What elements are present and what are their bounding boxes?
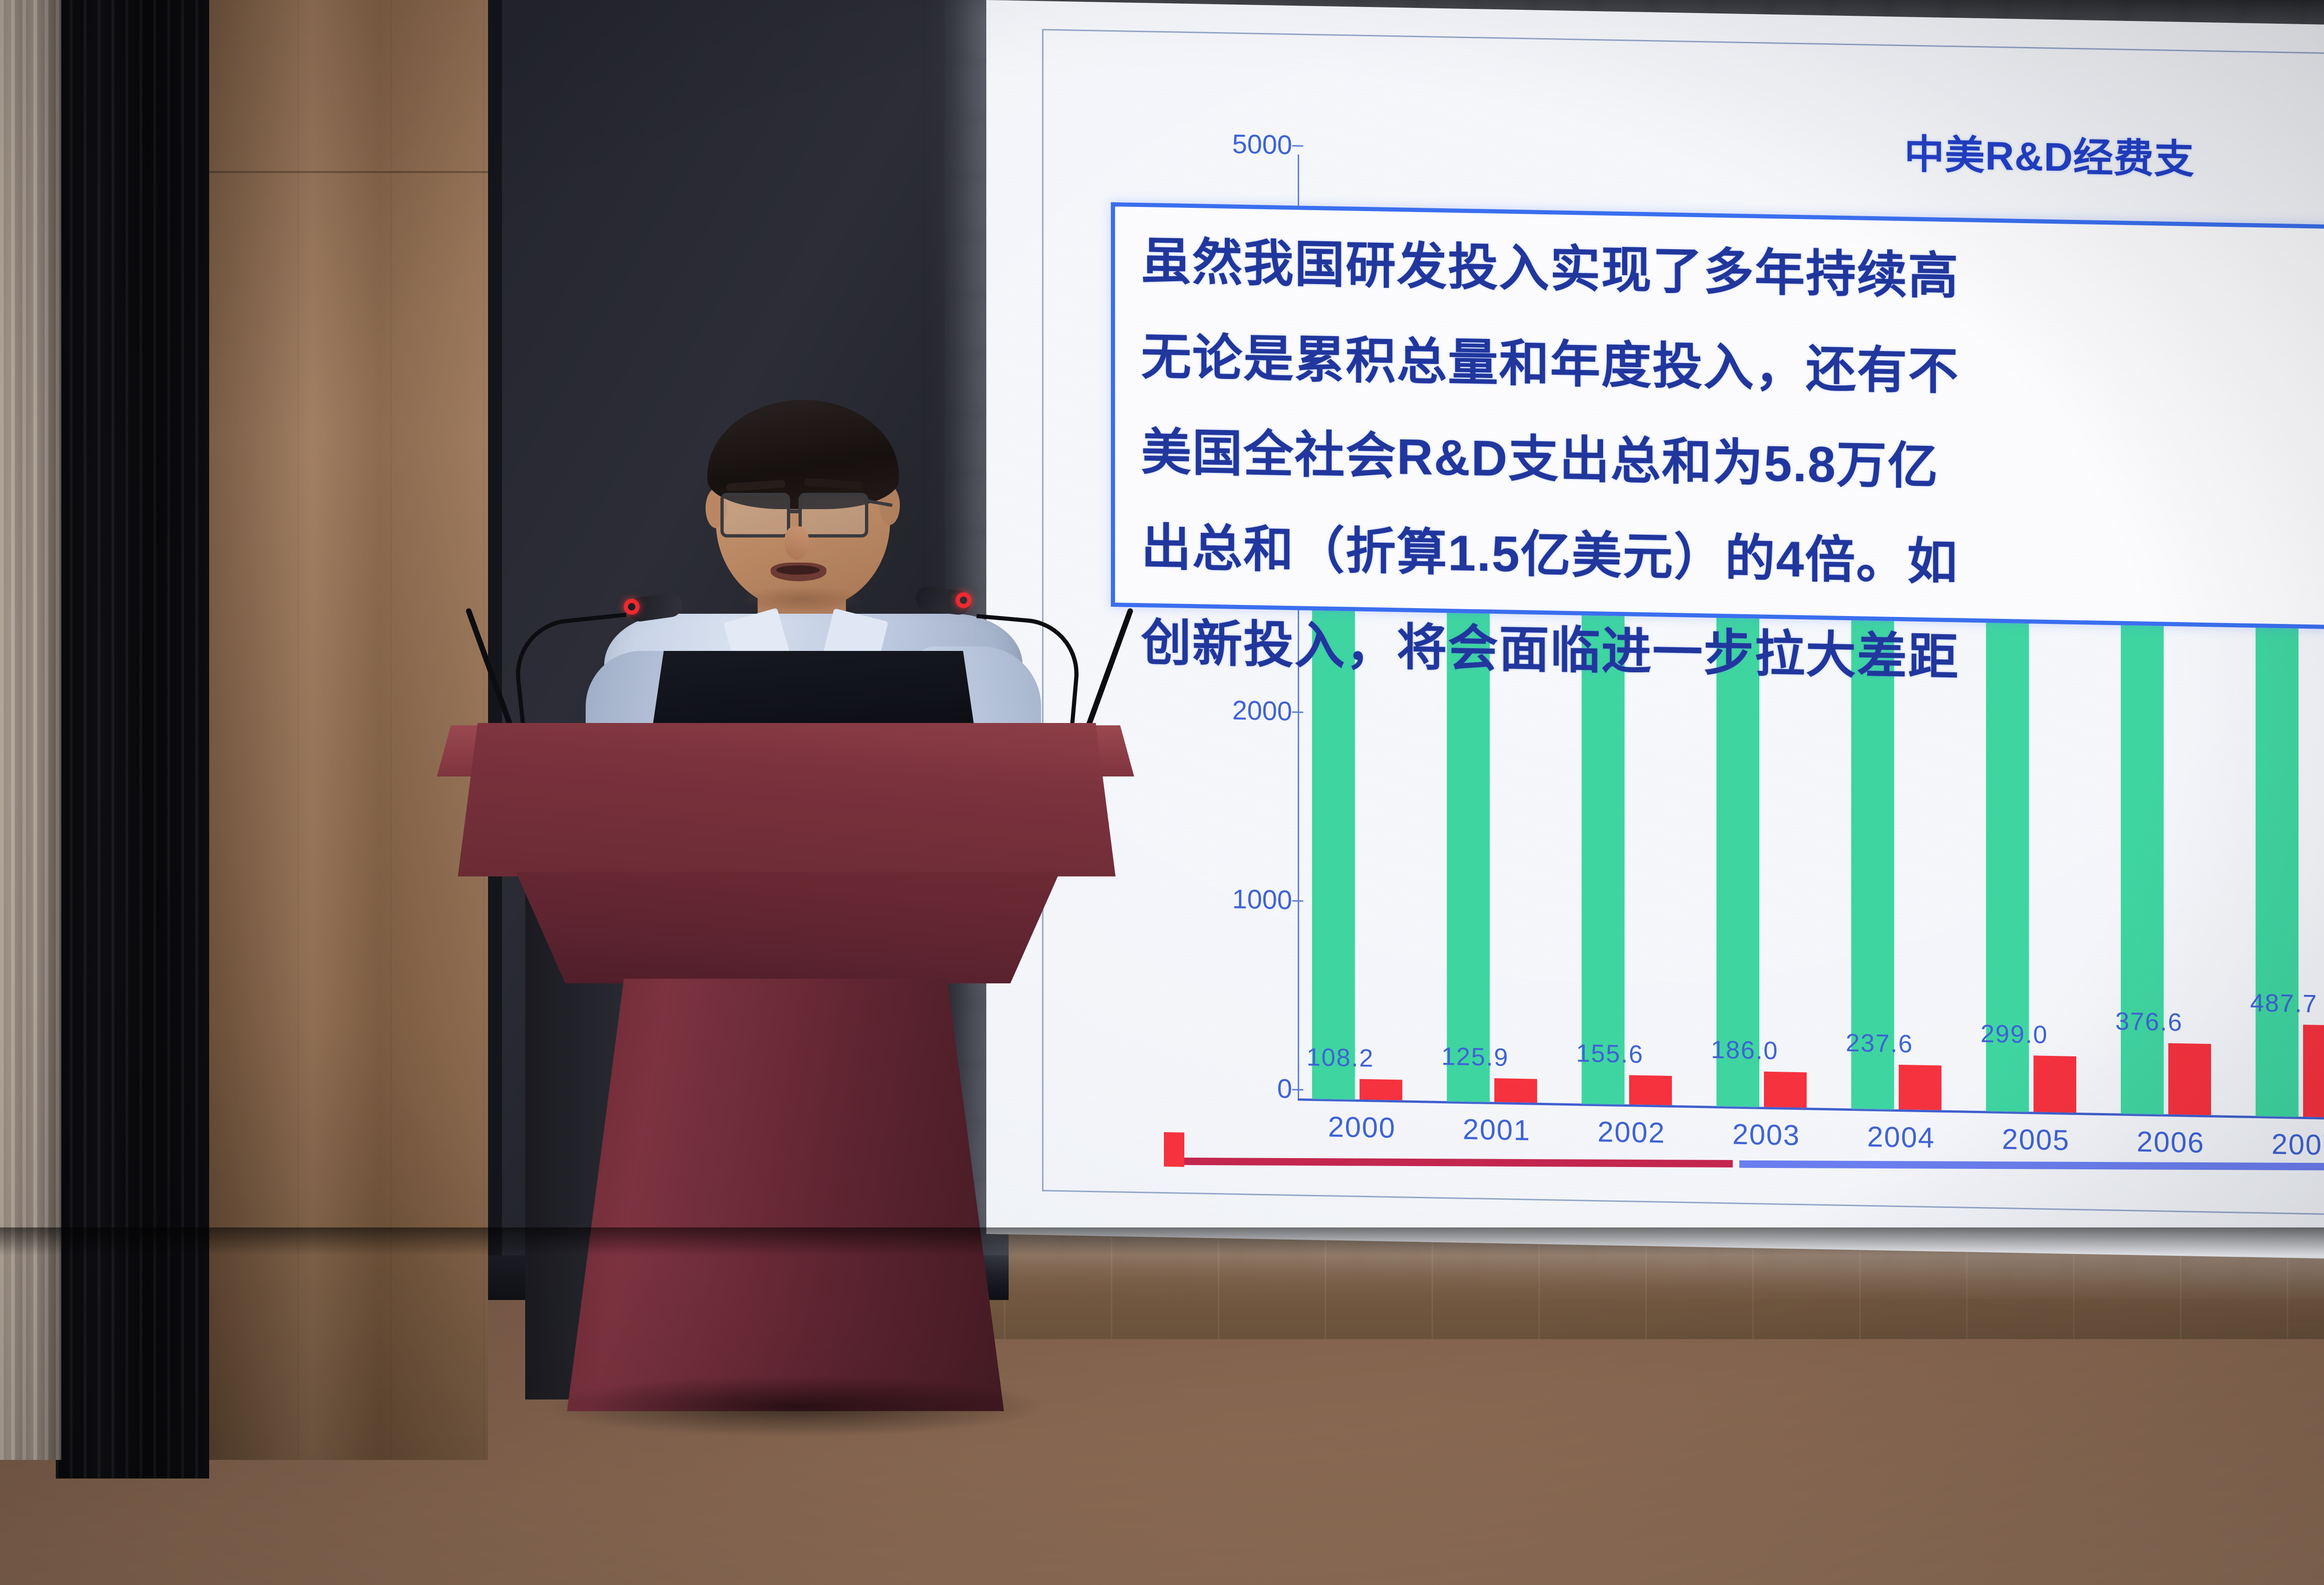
y-tick-mark bbox=[1292, 145, 1303, 146]
y-tick-label: 5000 bbox=[1232, 128, 1292, 160]
y-tick-label: 2000 bbox=[1232, 695, 1292, 727]
bar-china bbox=[1629, 1075, 1672, 1105]
lectern-waist bbox=[479, 872, 1097, 983]
bar-china bbox=[2168, 1043, 2211, 1115]
legend-swatch-china bbox=[1164, 1132, 1184, 1167]
eyeglasses-bridge bbox=[790, 510, 800, 513]
legend-rule-red bbox=[1184, 1158, 1733, 1167]
callout-line-2: 无论是累积总量和年度投入，还有不 bbox=[1141, 316, 2324, 411]
callout-line-1: 虽然我国研发投入实现了多年持续高 bbox=[1141, 221, 2324, 316]
bar-data-label: 237.6 bbox=[1846, 1028, 1985, 1059]
mic-indicator-ring bbox=[956, 592, 971, 608]
eyeglasses-lens-right bbox=[799, 493, 868, 537]
speaker-mouth-inner bbox=[776, 565, 820, 575]
lectern-floor-shadow bbox=[548, 1376, 1041, 1437]
bar-data-label: 155.6 bbox=[1576, 1039, 1716, 1070]
bar-china bbox=[1764, 1072, 1807, 1108]
stage-edge-shadow bbox=[0, 1227, 2324, 1255]
bar-china bbox=[1899, 1065, 1941, 1110]
lectern-front-panel bbox=[458, 723, 1116, 876]
bar-data-label: 108.2 bbox=[1307, 1043, 1446, 1074]
screenshot-stage: 中美R&D经费支 500040003000200010000 108.2125.… bbox=[0, 0, 2324, 1585]
legend-rule-blue bbox=[1739, 1161, 2324, 1171]
bar-data-label: 299.0 bbox=[1981, 1019, 2120, 1050]
bar-data-label: 487.7 bbox=[2250, 988, 2324, 1020]
callout-line-4: 出总和（折算1.5亿美元）的4倍。如 bbox=[1141, 507, 2324, 602]
y-tick-label: 0 bbox=[1277, 1073, 1292, 1105]
bar-data-label: 125.9 bbox=[1441, 1042, 1581, 1073]
bar-china bbox=[2303, 1025, 2324, 1118]
speaker-chin-shadow bbox=[739, 586, 865, 613]
slide-text-callout: 虽然我国研发投入实现了多年持续高无论是累积总量和年度投入，还有不美国全社会R&D… bbox=[1111, 202, 2324, 630]
lectern-column bbox=[567, 979, 1004, 1411]
bar-china bbox=[2033, 1055, 2076, 1113]
y-tick-label: 1000 bbox=[1232, 883, 1292, 915]
bar-data-label: 376.6 bbox=[2115, 1007, 2255, 1038]
mic-indicator-ring bbox=[624, 599, 640, 615]
bar-china bbox=[1494, 1078, 1537, 1103]
bar-data-label: 186.0 bbox=[1711, 1035, 1850, 1067]
speaker-nose bbox=[785, 526, 809, 560]
wood-panel-seam bbox=[205, 171, 488, 173]
projected-slide: 中美R&D经费支 500040003000200010000 108.2125.… bbox=[986, 0, 2324, 1260]
callout-line-3: 美国全社会R&D支出总和为5.8万亿 bbox=[1141, 411, 2324, 507]
bar-china bbox=[1360, 1079, 1402, 1101]
eyeglasses-lens-left bbox=[720, 493, 790, 537]
black-stage-drape bbox=[56, 0, 209, 1479]
